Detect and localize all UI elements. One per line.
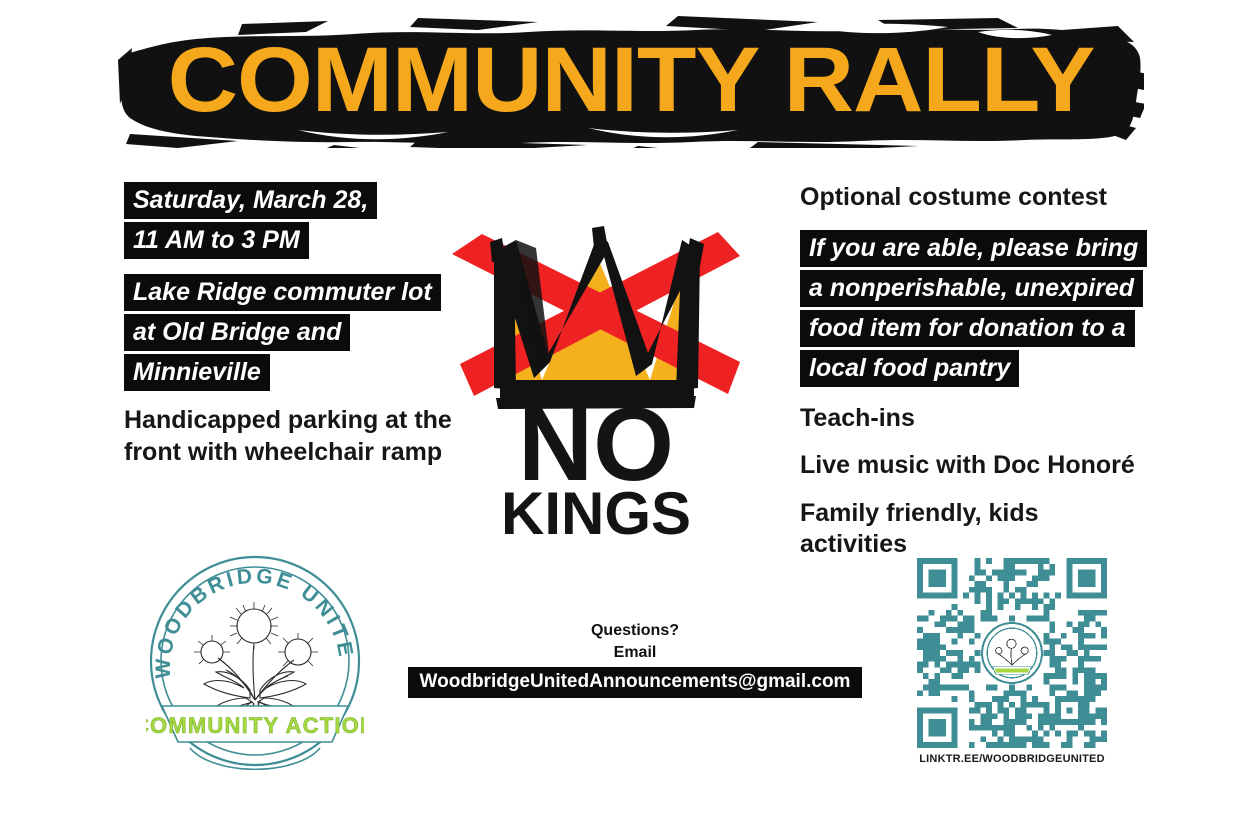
- questions-label: Questions?: [400, 620, 870, 642]
- kings-word: KINGS: [501, 480, 691, 542]
- qr-center-logo: [987, 628, 1037, 678]
- qr-block: LINKTR.EE/WOODBRIDGEUNITED: [912, 558, 1112, 765]
- food-donation-note: If you are able, please bring a nonperis…: [800, 230, 1160, 387]
- family-friendly-item: Family friendly, kids activities: [800, 498, 1050, 561]
- date-line: Saturday, March 28,: [124, 182, 377, 219]
- location-line-2: at Old Bridge and: [124, 314, 350, 351]
- seal-banner-text: COMMUNITY ACTION: [146, 713, 364, 738]
- no-kings-logo: NO KINGS: [446, 212, 746, 542]
- location-line-1: Lake Ridge commuter lot: [124, 274, 441, 311]
- time-line: 11 AM to 3 PM: [124, 222, 309, 259]
- woodbridge-united-logo: WOODBRIDGE UNITED: [146, 552, 364, 770]
- teach-ins-item: Teach-ins: [800, 403, 1160, 435]
- donation-line-3: food item for donation to a: [800, 310, 1135, 347]
- page-title: COMMUNITY RALLY: [87, 8, 1175, 148]
- location-line-3: Minnieville: [124, 354, 270, 391]
- accessibility-note: Handicapped parking at the front with wh…: [124, 405, 469, 468]
- left-info-column: Saturday, March 28, 11 AM to 3 PM Lake R…: [124, 182, 484, 468]
- org-seal-graphic: WOODBRIDGE UNITED: [146, 552, 364, 770]
- email-address[interactable]: WoodbridgeUnitedAnnouncements@gmail.com: [408, 667, 863, 698]
- no-kings-graphic: NO KINGS: [446, 212, 746, 542]
- donation-line-4: local food pantry: [800, 350, 1019, 387]
- contact-block: Questions? Email WoodbridgeUnitedAnnounc…: [400, 620, 870, 698]
- header-banner: COMMUNITY RALLY: [118, 8, 1144, 148]
- live-music-item: Live music with Doc Honoré: [800, 450, 1160, 482]
- qr-code[interactable]: [917, 558, 1107, 748]
- costume-contest-item: Optional costume contest: [800, 182, 1160, 214]
- right-info-column: Optional costume contest If you are able…: [800, 182, 1160, 577]
- qr-caption: LINKTR.EE/WOODBRIDGEUNITED: [912, 753, 1112, 765]
- qr-code-graphic: [917, 558, 1107, 748]
- email-label: Email: [400, 642, 870, 664]
- donation-line-2: a nonperishable, unexpired: [800, 270, 1143, 307]
- donation-line-1: If you are able, please bring: [800, 230, 1147, 267]
